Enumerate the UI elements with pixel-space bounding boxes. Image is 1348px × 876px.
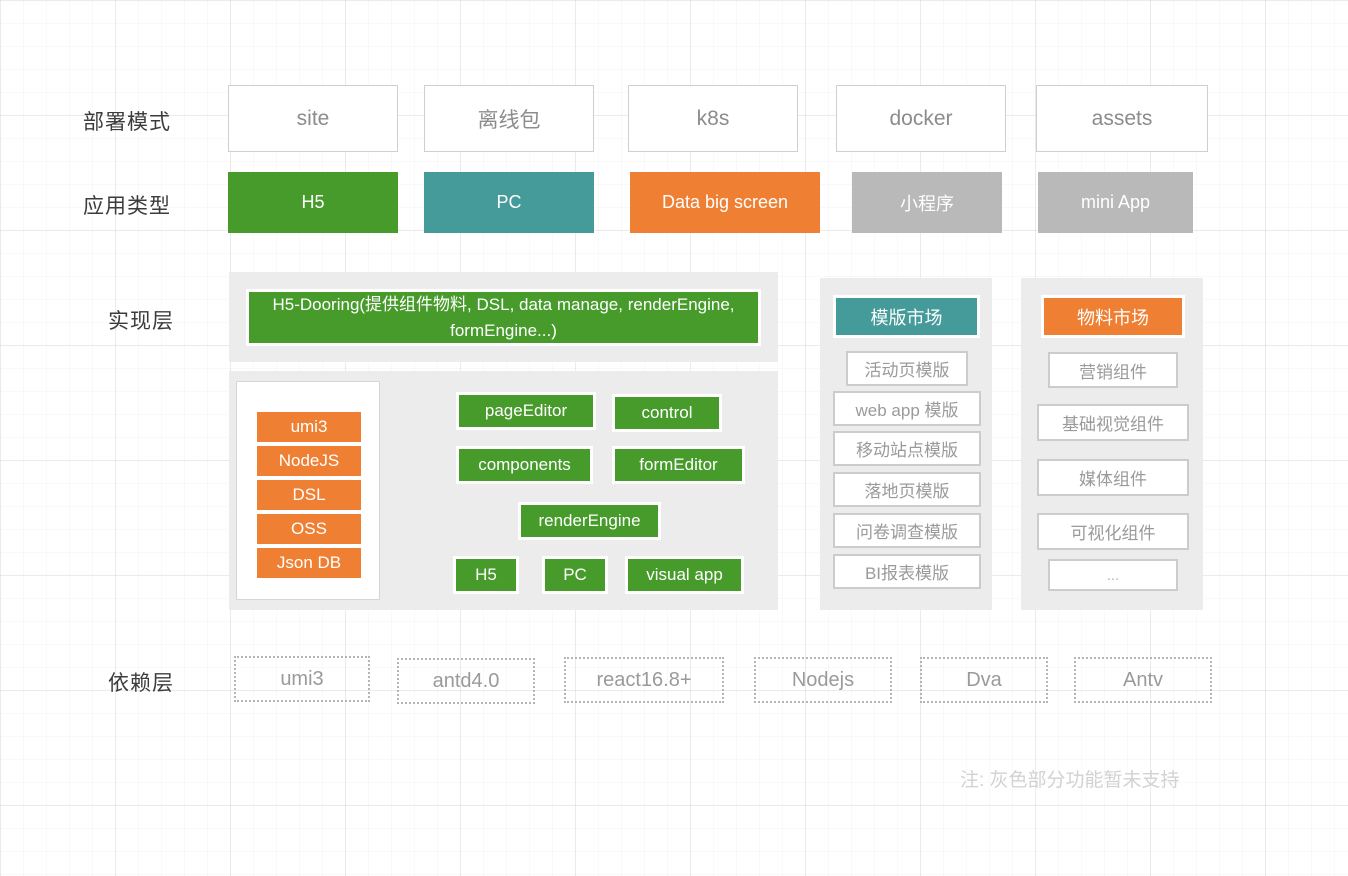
module-components[interactable]: components (456, 446, 593, 484)
impl-stack-column: umi3 NodeJS DSL OSS Json DB (236, 381, 380, 600)
module-label: visual app (646, 565, 723, 585)
template-item-label: 活动页模版 (865, 356, 950, 381)
stack-item-json-db[interactable]: Json DB (255, 546, 363, 580)
deploy-box-label: docker (889, 107, 952, 131)
stack-item-oss[interactable]: OSS (255, 512, 363, 546)
dependency-umi3[interactable]: umi3 (234, 656, 370, 702)
dependency-label: react16.8+ (596, 669, 691, 692)
template-market-header-label: 模版市场 (871, 304, 943, 330)
app-type-label: PC (496, 192, 521, 213)
material-market-header-label: 物料市场 (1077, 304, 1149, 330)
material-item-basic-visual[interactable]: 基础视觉组件 (1037, 404, 1189, 441)
module-control[interactable]: control (612, 394, 722, 432)
dependency-label: umi3 (280, 668, 323, 691)
dependency-antv[interactable]: Antv (1074, 657, 1212, 703)
material-item-media[interactable]: 媒体组件 (1037, 459, 1189, 496)
stack-item-label: Json DB (277, 553, 341, 573)
material-item-more[interactable]: ... (1048, 559, 1178, 591)
deploy-box-label: k8s (697, 107, 730, 131)
dependency-label: Antv (1123, 669, 1163, 692)
deploy-box-site[interactable]: site (228, 85, 398, 152)
app-type-h5[interactable]: H5 (228, 172, 398, 233)
template-item-web-app[interactable]: web app 模版 (833, 391, 981, 426)
module-label: renderEngine (538, 511, 640, 531)
material-item-label: 基础视觉组件 (1062, 410, 1164, 435)
deploy-box-assets[interactable]: assets (1036, 85, 1208, 152)
module-label: components (478, 455, 571, 475)
deploy-box-label: site (297, 107, 330, 131)
deploy-box-label: 离线包 (478, 104, 541, 134)
deploy-box-k8s[interactable]: k8s (628, 85, 798, 152)
app-type-data-big-screen[interactable]: Data big screen (630, 172, 820, 233)
app-type-mini-program[interactable]: 小程序 (852, 172, 1002, 233)
module-h5[interactable]: H5 (453, 556, 519, 594)
module-visual-app[interactable]: visual app (625, 556, 744, 594)
module-form-editor[interactable]: formEditor (612, 446, 745, 484)
template-item-activity-page[interactable]: 活动页模版 (846, 351, 968, 386)
deploy-box-docker[interactable]: docker (836, 85, 1006, 152)
material-item-visualization[interactable]: 可视化组件 (1037, 513, 1189, 550)
dependency-label: Dva (966, 669, 1002, 692)
template-item-label: 问卷调查模版 (856, 518, 958, 543)
dependency-label: antd4.0 (433, 670, 500, 693)
stack-item-umi3[interactable]: umi3 (255, 410, 363, 444)
dependency-antd[interactable]: antd4.0 (397, 658, 535, 704)
material-market-header[interactable]: 物料市场 (1041, 295, 1185, 338)
row-label-deps: 依赖层 (108, 667, 174, 697)
template-item-bi-report[interactable]: BI报表模版 (833, 554, 981, 589)
module-label: PC (563, 565, 587, 585)
material-item-label: 媒体组件 (1079, 465, 1147, 490)
impl-main-panel: umi3 NodeJS DSL OSS Json DB pageEditor c… (229, 371, 778, 610)
template-item-mobile-site[interactable]: 移动站点模版 (833, 431, 981, 466)
app-type-mini-app[interactable]: mini App (1038, 172, 1193, 233)
module-label: formEditor (639, 455, 717, 475)
template-item-landing-page[interactable]: 落地页模版 (833, 472, 981, 507)
impl-banner-label: H5-Dooring(提供组件物料, DSL, data manage, ren… (259, 292, 748, 344)
app-type-label: mini App (1081, 192, 1150, 213)
row-label-app-type: 应用类型 (83, 190, 171, 220)
template-item-questionnaire[interactable]: 问卷调查模版 (833, 513, 981, 548)
stack-item-label: NodeJS (279, 451, 339, 471)
row-label-impl: 实现层 (108, 305, 174, 335)
module-label: pageEditor (485, 401, 567, 421)
stack-item-dsl[interactable]: DSL (255, 478, 363, 512)
impl-banner-panel: H5-Dooring(提供组件物料, DSL, data manage, ren… (229, 272, 778, 362)
app-type-label: H5 (301, 192, 324, 213)
dependency-label: Nodejs (792, 669, 854, 692)
material-item-label: ... (1107, 567, 1120, 584)
stack-item-label: DSL (292, 485, 325, 505)
module-render-engine[interactable]: renderEngine (518, 502, 661, 540)
template-item-label: 移动站点模版 (856, 436, 958, 461)
architecture-diagram: 部署模式 应用类型 实现层 依赖层 site 离线包 k8s docker as… (0, 0, 1348, 876)
template-market-panel: 模版市场 活动页模版 web app 模版 移动站点模版 落地页模版 问卷调查模… (820, 278, 992, 610)
deploy-box-offline-package[interactable]: 离线包 (424, 85, 594, 152)
stack-item-label: umi3 (291, 417, 328, 437)
material-market-panel: 物料市场 营销组件 基础视觉组件 媒体组件 可视化组件 ... (1021, 278, 1203, 610)
template-item-label: 落地页模版 (865, 477, 950, 502)
module-page-editor[interactable]: pageEditor (456, 392, 596, 430)
template-market-header[interactable]: 模版市场 (833, 295, 980, 338)
module-label: H5 (475, 565, 497, 585)
dependency-nodejs[interactable]: Nodejs (754, 657, 892, 703)
template-item-label: web app 模版 (856, 396, 959, 421)
module-label: control (641, 403, 692, 423)
dependency-react[interactable]: react16.8+ (564, 657, 724, 703)
template-item-label: BI报表模版 (865, 559, 949, 584)
material-item-label: 营销组件 (1079, 358, 1147, 383)
material-item-marketing[interactable]: 营销组件 (1048, 352, 1178, 388)
row-label-deploy: 部署模式 (83, 106, 171, 136)
material-item-label: 可视化组件 (1071, 519, 1156, 544)
stack-item-nodejs[interactable]: NodeJS (255, 444, 363, 478)
impl-banner-h5-dooring[interactable]: H5-Dooring(提供组件物料, DSL, data manage, ren… (246, 289, 761, 346)
app-type-label: Data big screen (662, 192, 788, 213)
app-type-label: 小程序 (900, 190, 954, 216)
footnote: 注: 灰色部分功能暂未支持 (960, 765, 1180, 792)
deploy-box-label: assets (1092, 107, 1153, 131)
stack-item-label: OSS (291, 519, 327, 539)
app-type-pc[interactable]: PC (424, 172, 594, 233)
dependency-dva[interactable]: Dva (920, 657, 1048, 703)
module-pc[interactable]: PC (542, 556, 608, 594)
